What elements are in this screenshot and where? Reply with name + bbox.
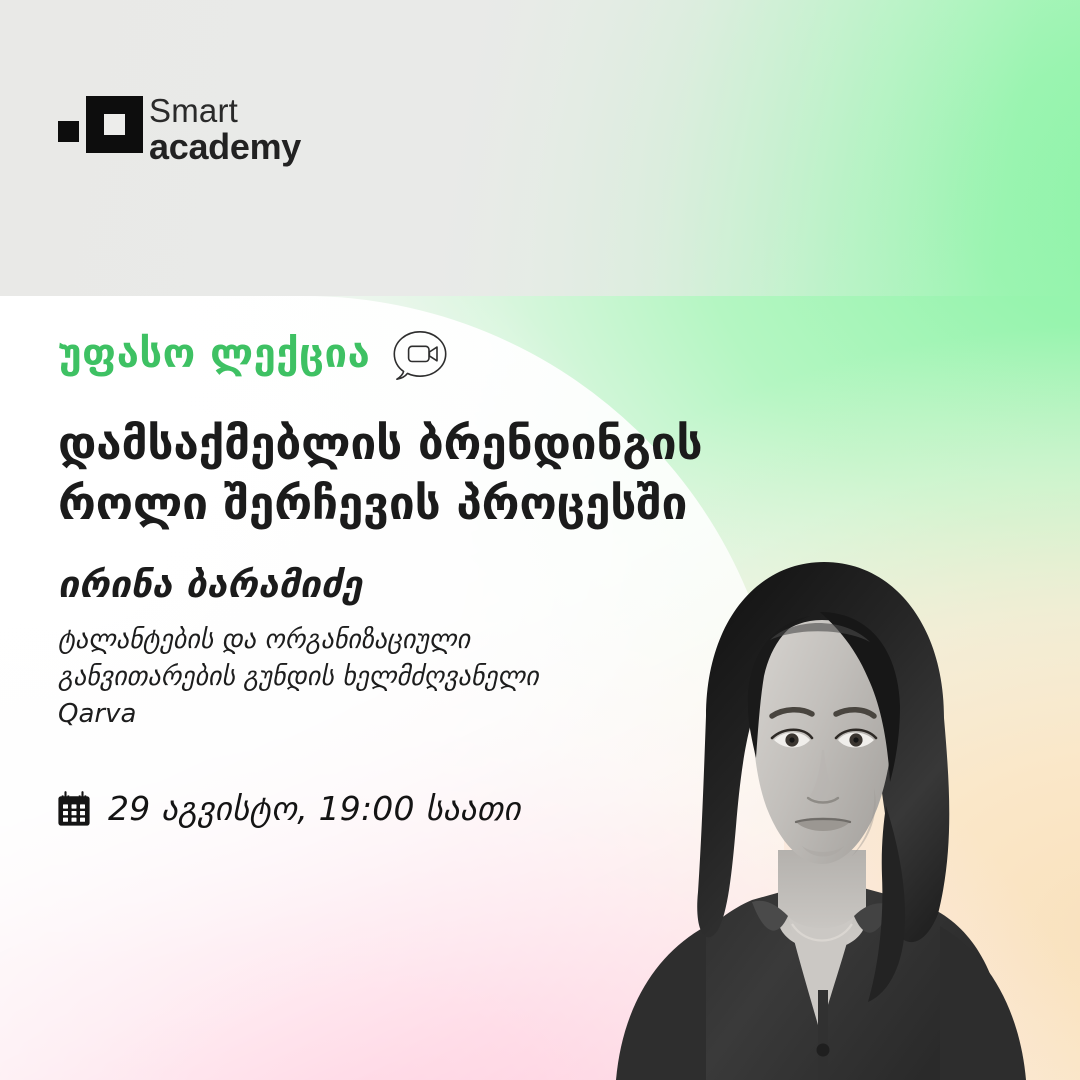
brand-name-bold: academy <box>149 129 301 164</box>
brand-name-light: Smart <box>149 95 301 127</box>
event-date-row: 29 აგვისტო, 19:00 საათი <box>55 789 521 828</box>
calendar-icon <box>55 790 93 828</box>
speaker-role: ტალანტების და ორგანიზაციული განვითარების… <box>58 622 618 733</box>
logo-inner-square <box>104 114 125 135</box>
speaker-name: ირინა ბარამიძე <box>58 563 362 606</box>
page-title: დამსაქმებლის ბრენდინგის როლი შერჩევის პრ… <box>58 414 798 534</box>
eyebrow-row: უფასო ლექცია <box>58 326 448 382</box>
speaker-company: Qarva <box>58 696 618 733</box>
brand-logo[interactable]: Smart academy <box>58 95 301 165</box>
video-chat-bubble-icon <box>392 326 448 382</box>
brand-wordmark: Smart academy <box>149 95 301 165</box>
speaker-role-line-1: ტალანტების და ორგანიზაციული <box>58 622 618 659</box>
speaker-portrait <box>556 520 1080 1080</box>
nested-squares-logo-icon <box>58 96 132 164</box>
headline-line-1: დამსაქმებლის ბრენდინგის <box>58 414 798 474</box>
speaker-role-line-2: განვითარების გუნდის ხელმძღვანელი <box>58 659 618 696</box>
logo-small-square <box>58 121 79 142</box>
promo-poster: Smart academy უფასო ლექცია დამსაქმებლის … <box>0 0 1080 1080</box>
event-date-text: 29 აგვისტო, 19:00 საათი <box>108 789 521 828</box>
eyebrow-label: უფასო ლექცია <box>58 331 370 377</box>
